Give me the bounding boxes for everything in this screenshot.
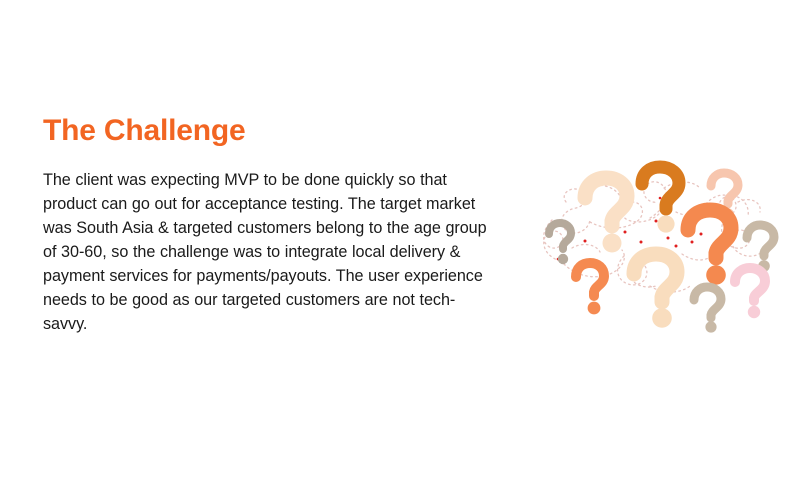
- slide-canvas: The Challenge The client was expecting M…: [0, 0, 800, 500]
- qm-cream-large-left: [585, 178, 627, 253]
- qm-gray-small-left: [549, 223, 571, 264]
- body-paragraph: The client was expecting MVP to be done …: [43, 168, 495, 336]
- qm-orange-large-right: [688, 210, 731, 285]
- text-content-column: The Challenge The client was expecting M…: [43, 112, 543, 336]
- qm-darkorange-top: [642, 167, 679, 233]
- qm-orange-small-lower-left: [576, 263, 604, 314]
- page-title: The Challenge: [43, 112, 543, 150]
- question-marks-cluster-illustration: [528, 158, 784, 334]
- qm-taupe-bottom: [694, 287, 721, 333]
- qm-cream-large-bottom: [634, 254, 677, 328]
- qm-pink-bottom-right: [735, 268, 765, 318]
